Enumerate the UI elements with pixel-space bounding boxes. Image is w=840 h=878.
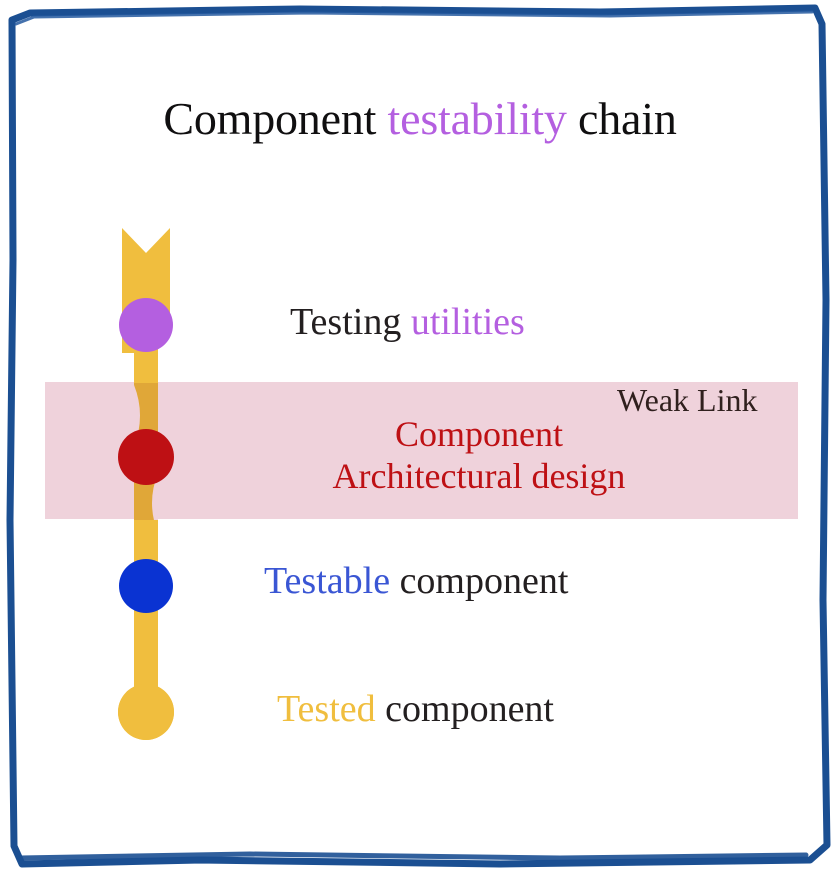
page-title-part2: chain — [567, 93, 677, 144]
label-testing-utilities-prefix: Testing — [290, 301, 411, 343]
label-testing-utilities-accent: utilities — [411, 301, 525, 343]
label-testable-suffix: component — [390, 560, 568, 602]
label-architecture-line2: Architectural design — [333, 456, 626, 496]
label-tested-suffix: component — [376, 688, 554, 730]
label-architecture-line1: Component — [395, 414, 563, 454]
label-tested-accent: Tested — [277, 688, 376, 730]
node-dot-tested-component — [118, 684, 174, 740]
weak-link-callout-label: Weak Link — [617, 384, 757, 416]
page-title-accent: testability — [388, 93, 567, 144]
node-dot-testable-component — [119, 559, 173, 613]
chain-graphic — [100, 215, 200, 745]
label-testable-accent: Testable — [264, 560, 390, 602]
page-title-part1: Component — [163, 93, 387, 144]
page-title: Component testability chain — [0, 96, 840, 142]
label-component-architectural-design: ComponentArchitectural design — [264, 413, 694, 497]
label-testing-utilities: Testing utilities — [290, 303, 525, 341]
node-dot-component-architectural-design — [118, 429, 174, 485]
label-testable-component: Testable component — [264, 562, 568, 600]
diagram-canvas: Component testability chain Testing util… — [0, 0, 840, 878]
node-dot-testing-utilities — [119, 298, 173, 352]
label-tested-component: Tested component — [277, 690, 554, 728]
chain-shaft-bottom — [134, 520, 158, 710]
